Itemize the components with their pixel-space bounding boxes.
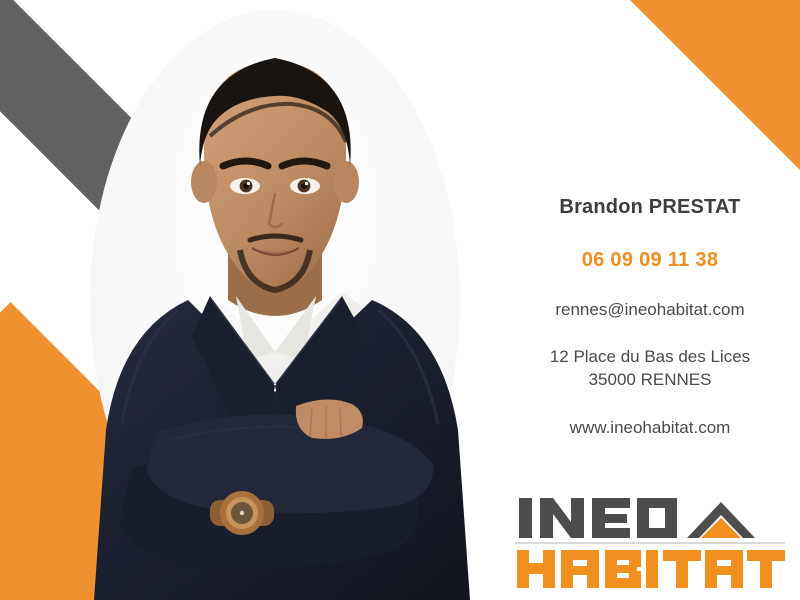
portrait-photo	[60, 0, 500, 600]
contact-phone[interactable]: 06 09 09 11 38	[500, 249, 800, 272]
contact-name: Brandon PRESTAT	[500, 196, 800, 219]
grey-diagonal-stripe-top-right	[586, 0, 800, 82]
logo-top-word-shapes	[519, 498, 677, 538]
ineo-habitat-logo	[515, 490, 785, 590]
contact-address: 12 Place du Bas des Lices 35000 RENNES	[500, 346, 800, 392]
address-line-1: 12 Place du Bas des Lices	[500, 346, 800, 369]
contact-email[interactable]: rennes@ineohabitat.com	[500, 300, 800, 320]
roof-chevron-icon	[687, 502, 755, 538]
contact-website[interactable]: www.ineohabitat.com	[500, 418, 800, 438]
business-card: Brandon PRESTAT 06 09 09 11 38 rennes@in…	[0, 0, 800, 600]
logo-divider-line	[515, 542, 785, 544]
logo-bottom-word-shapes	[517, 550, 785, 588]
orange-corner-triangle-top-right	[620, 0, 800, 180]
contact-details: Brandon PRESTAT 06 09 09 11 38 rennes@in…	[500, 196, 800, 438]
address-line-2: 35000 RENNES	[500, 369, 800, 392]
